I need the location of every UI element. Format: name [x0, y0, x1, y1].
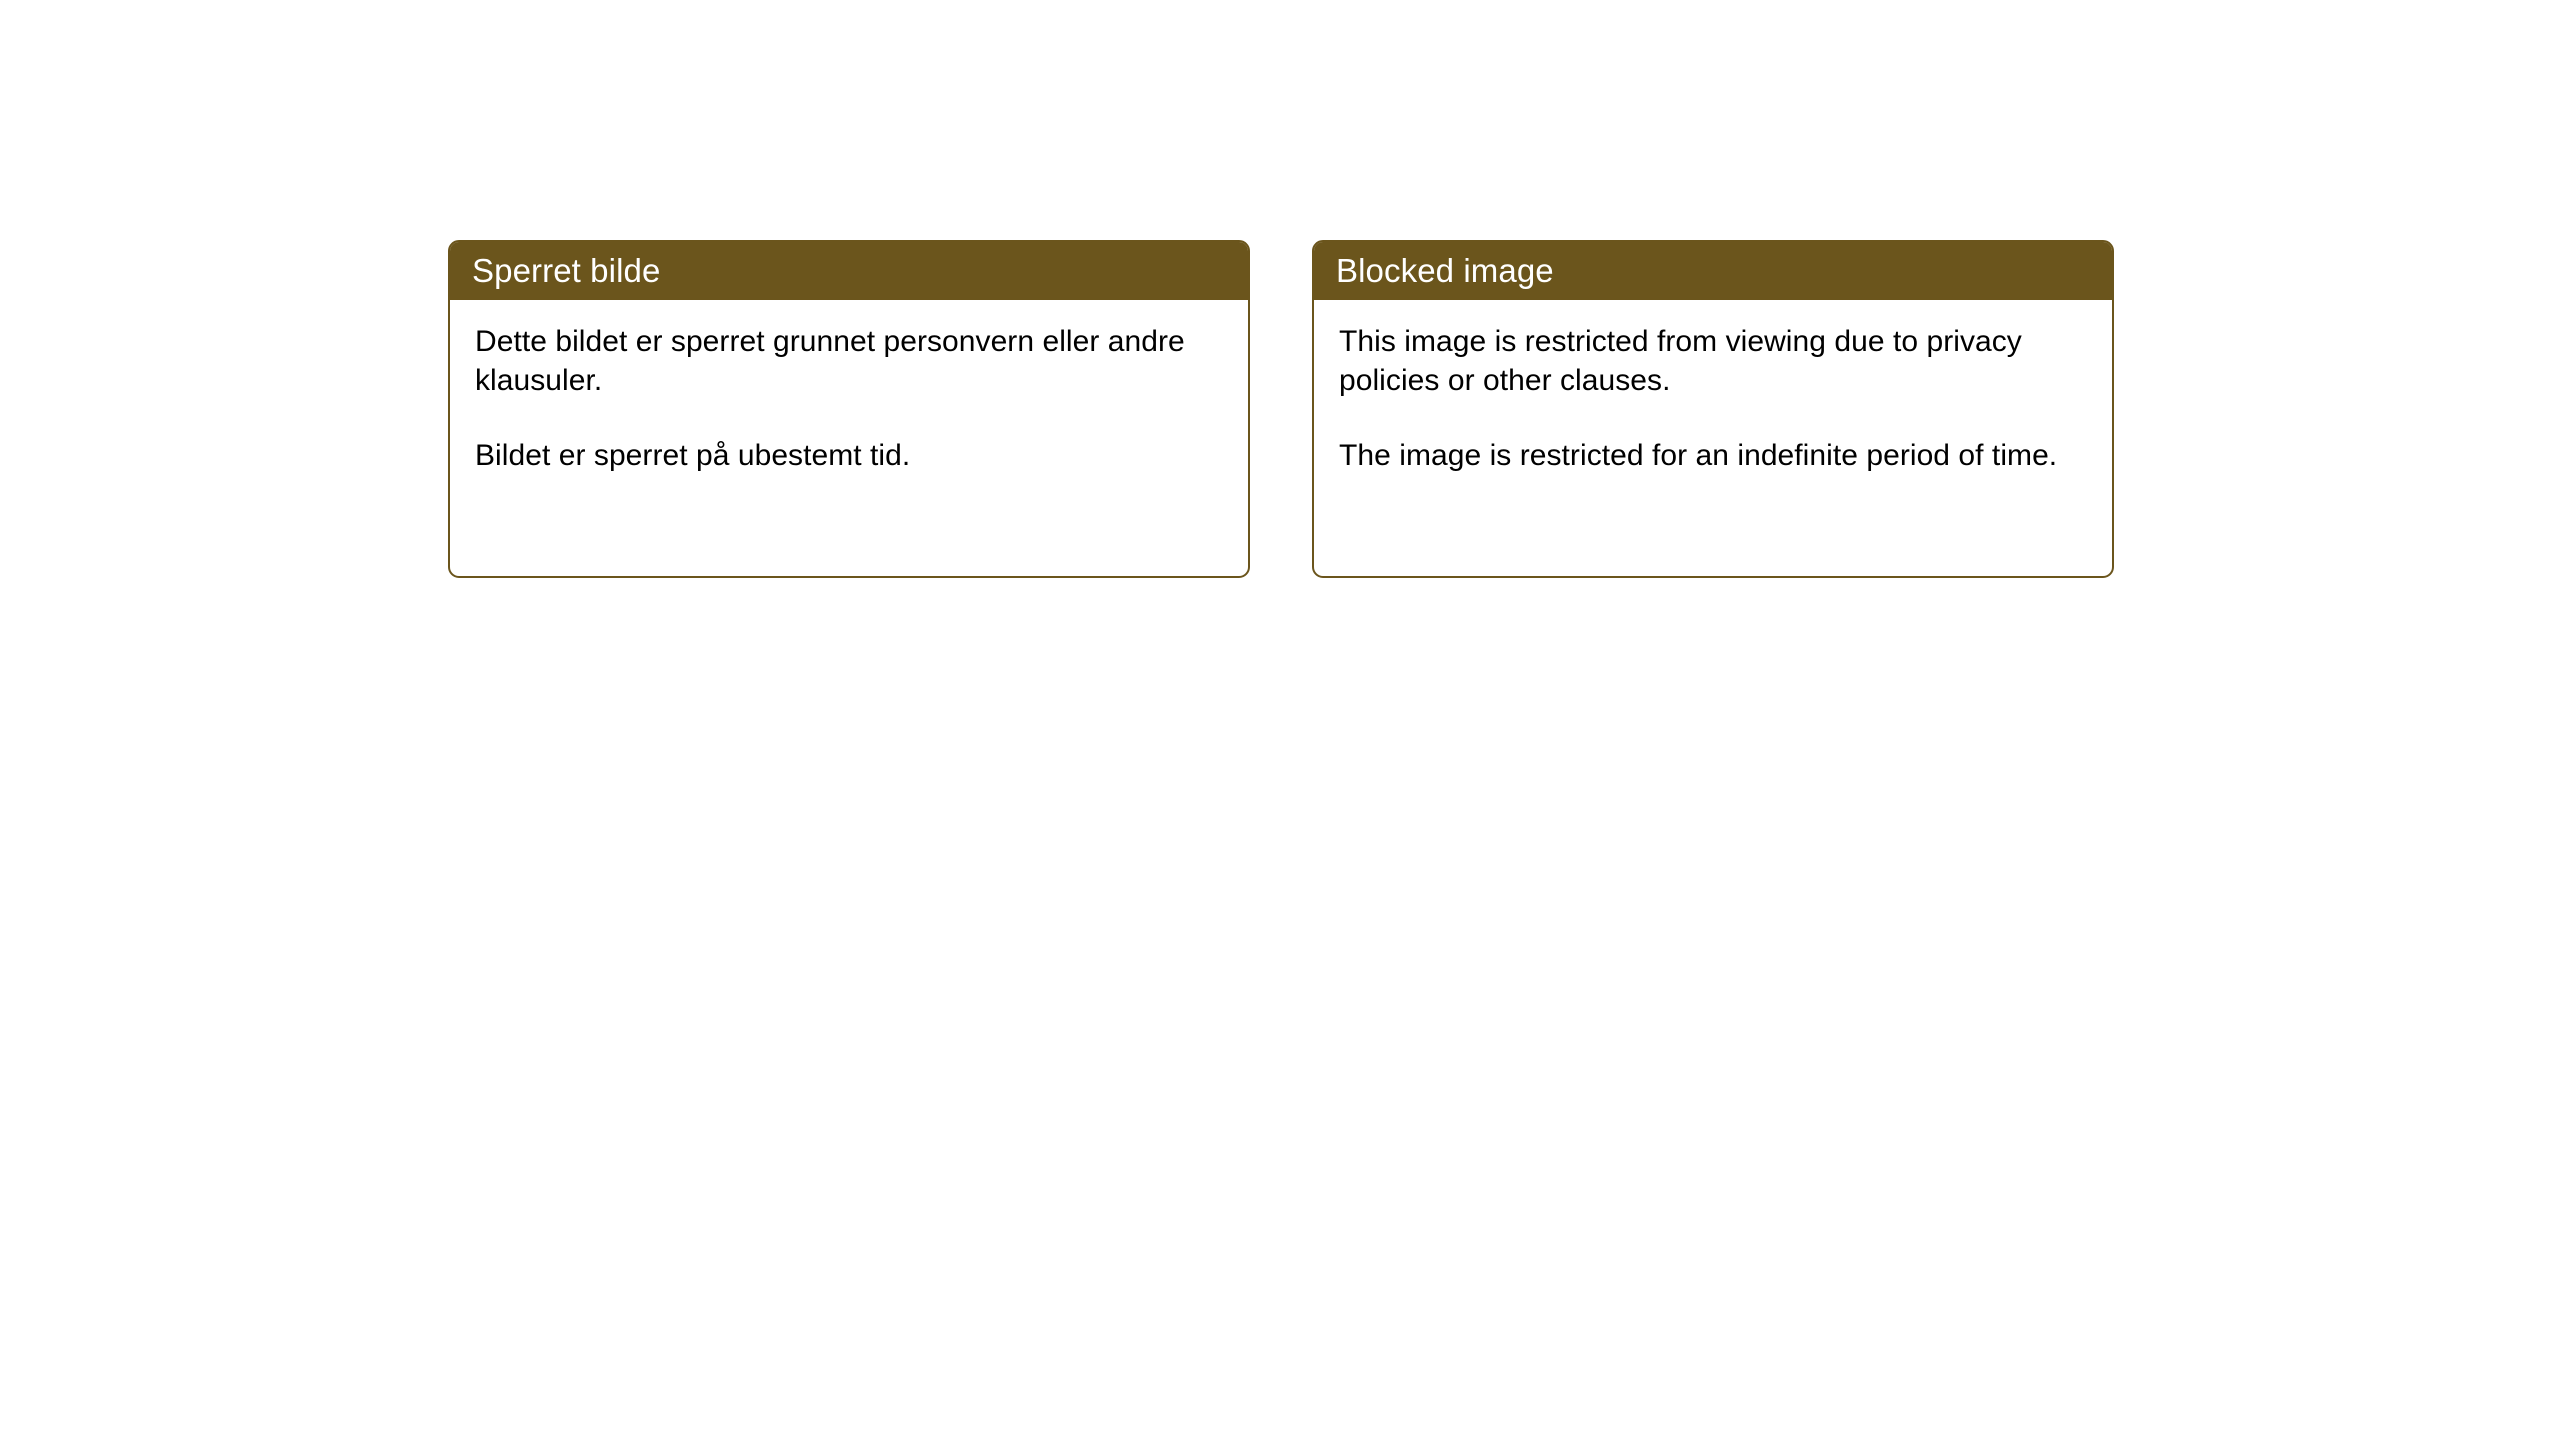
card-title-english: Blocked image: [1336, 254, 1554, 287]
card-header-english: Blocked image: [1313, 241, 2113, 300]
blocked-image-card-english: Blocked image This image is restricted f…: [1312, 240, 2114, 578]
card-header-norwegian: Sperret bilde: [449, 241, 1249, 300]
page-root: Sperret bilde Dette bildet er sperret gr…: [0, 0, 2560, 1440]
card-paragraph-duration-english: The image is restricted for an indefinit…: [1339, 436, 2086, 475]
blocked-image-card-norwegian: Sperret bilde Dette bildet er sperret gr…: [448, 240, 1250, 578]
card-body-norwegian: Dette bildet er sperret grunnet personve…: [450, 300, 1248, 495]
card-paragraph-reason-english: This image is restricted from viewing du…: [1339, 322, 2086, 400]
card-paragraph-reason-norwegian: Dette bildet er sperret grunnet personve…: [475, 322, 1222, 400]
card-paragraph-duration-norwegian: Bildet er sperret på ubestemt tid.: [475, 436, 1222, 475]
card-body-english: This image is restricted from viewing du…: [1314, 300, 2112, 495]
card-title-norwegian: Sperret bilde: [472, 254, 660, 287]
